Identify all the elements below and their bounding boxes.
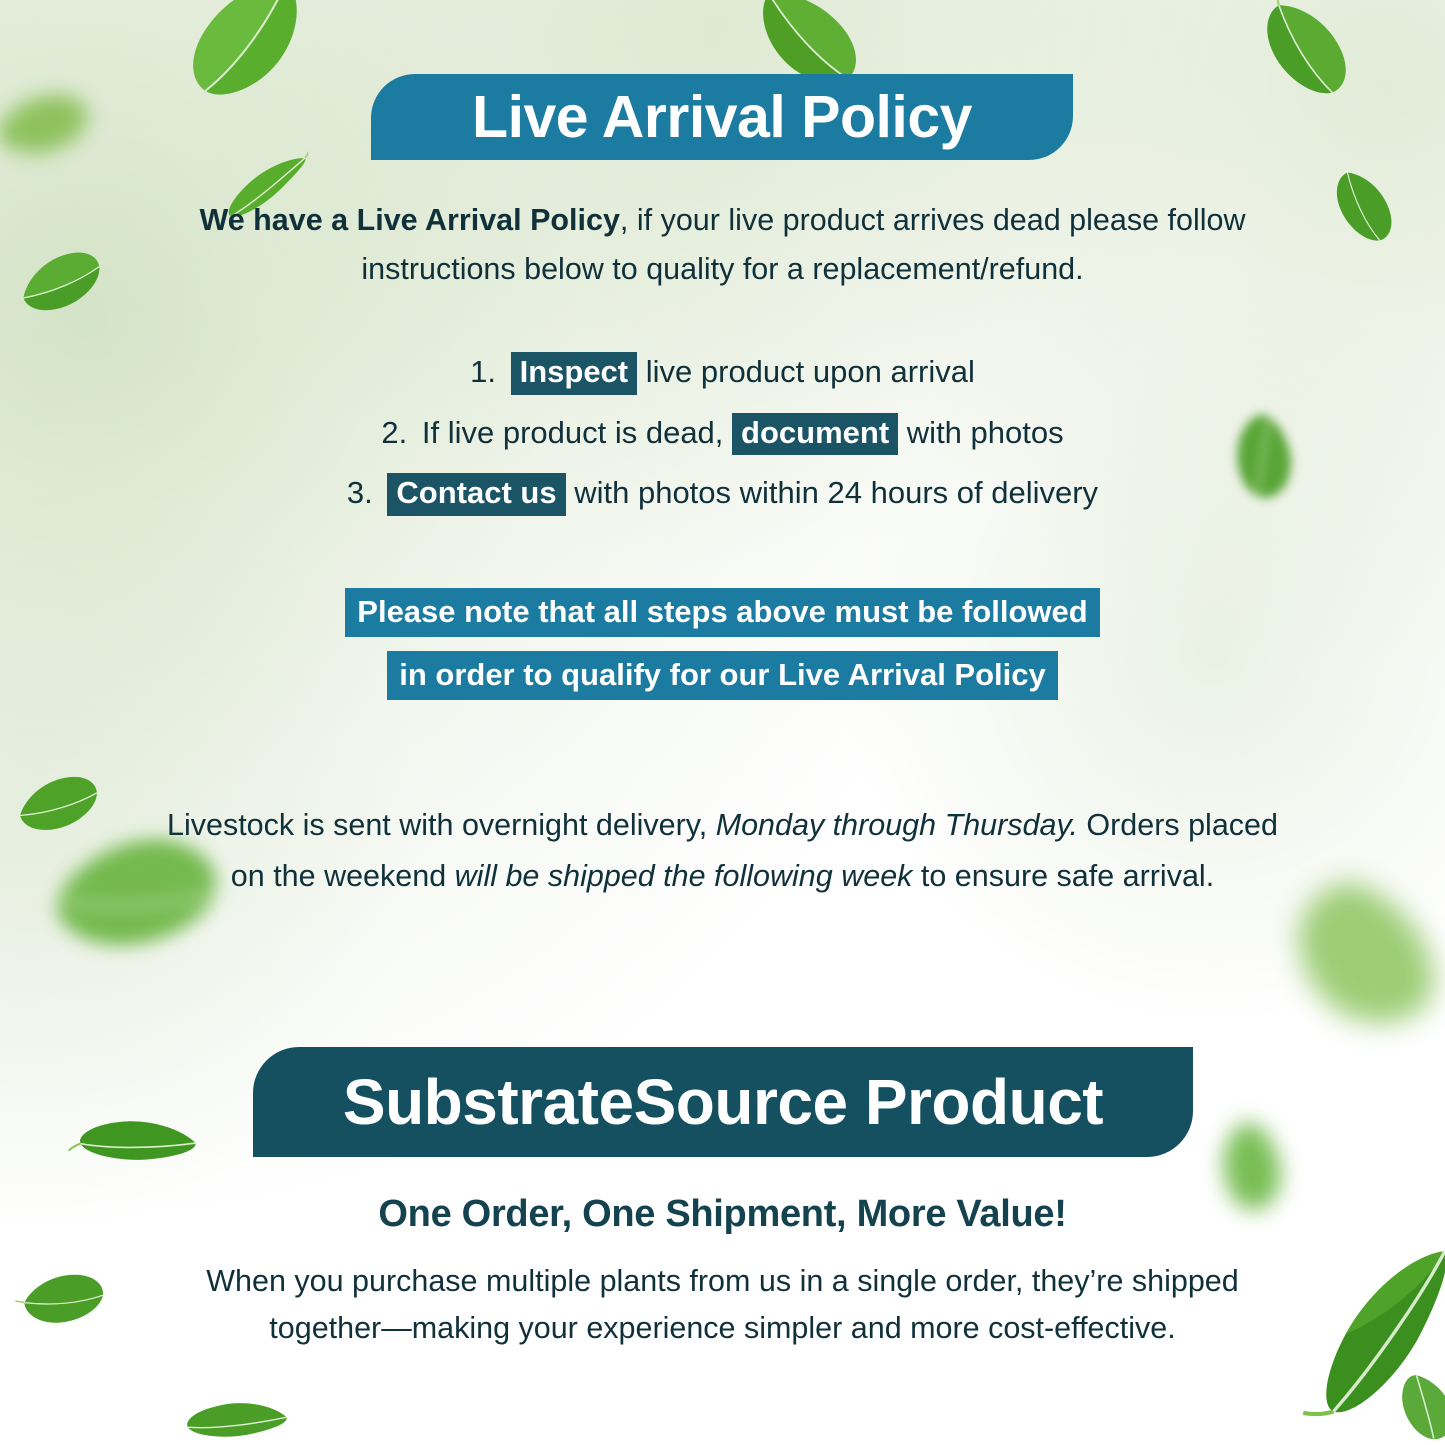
- content-layer: Live Arrival Policy We have a Live Arriv…: [0, 0, 1445, 1445]
- step-2-prefix-text: If live product is dead,: [422, 415, 724, 450]
- live-arrival-policy-banner: Live Arrival Policy: [371, 74, 1073, 160]
- step-2-text: with photos: [907, 415, 1064, 450]
- step-3-number: 3.: [347, 475, 373, 510]
- step-item-1: 1. Inspect live product upon arrival: [150, 352, 1295, 395]
- step-2-highlight-document: document: [732, 413, 898, 456]
- steps-list: 1. Inspect live product upon arrival 2. …: [150, 352, 1295, 534]
- policy-note-line-2-wrap: in order to qualify for our Live Arrival…: [150, 651, 1295, 700]
- substratesource-product-banner-title: SubstrateSource Product: [343, 1065, 1103, 1139]
- shipping-schedule-paragraph: Livestock is sent with overnight deliver…: [150, 800, 1295, 902]
- policy-note-line-1: Please note that all steps above must be…: [345, 588, 1099, 637]
- live-arrival-policy-infographic: Live Arrival Policy We have a Live Arriv…: [0, 0, 1445, 1445]
- shipping-italic-monday-thursday: Monday through Thursday.: [716, 808, 1078, 842]
- step-1-number: 1.: [470, 354, 496, 389]
- live-arrival-policy-banner-title: Live Arrival Policy: [472, 83, 972, 151]
- bundled-shipping-paragraph: When you purchase multiple plants from u…: [150, 1258, 1295, 1353]
- step-1-text: live product upon arrival: [646, 354, 975, 389]
- substratesource-product-banner: SubstrateSource Product: [253, 1047, 1193, 1157]
- step-item-3: 3. Contact us with photos within 24 hour…: [150, 473, 1295, 516]
- step-3-text: with photos within 24 hours of delivery: [574, 475, 1098, 510]
- shipping-text-part-3: to ensure safe arrival.: [912, 859, 1214, 893]
- step-1-highlight-inspect: Inspect: [511, 352, 638, 395]
- intro-paragraph: We have a Live Arrival Policy, if your l…: [150, 196, 1295, 295]
- policy-note-line-2: in order to qualify for our Live Arrival…: [387, 651, 1058, 700]
- step-2-number: 2.: [381, 415, 407, 450]
- value-tagline: One Order, One Shipment, More Value!: [150, 1193, 1295, 1236]
- step-item-2: 2. If live product is dead, document wit…: [150, 413, 1295, 456]
- intro-bold-text: We have a Live Arrival Policy: [199, 203, 619, 237]
- policy-note-line-1-wrap: Please note that all steps above must be…: [150, 588, 1295, 637]
- step-3-highlight-contact-us: Contact us: [387, 473, 565, 516]
- shipping-text-part-1: Livestock is sent with overnight deliver…: [167, 808, 716, 842]
- shipping-italic-following-week: will be shipped the following week: [455, 859, 913, 893]
